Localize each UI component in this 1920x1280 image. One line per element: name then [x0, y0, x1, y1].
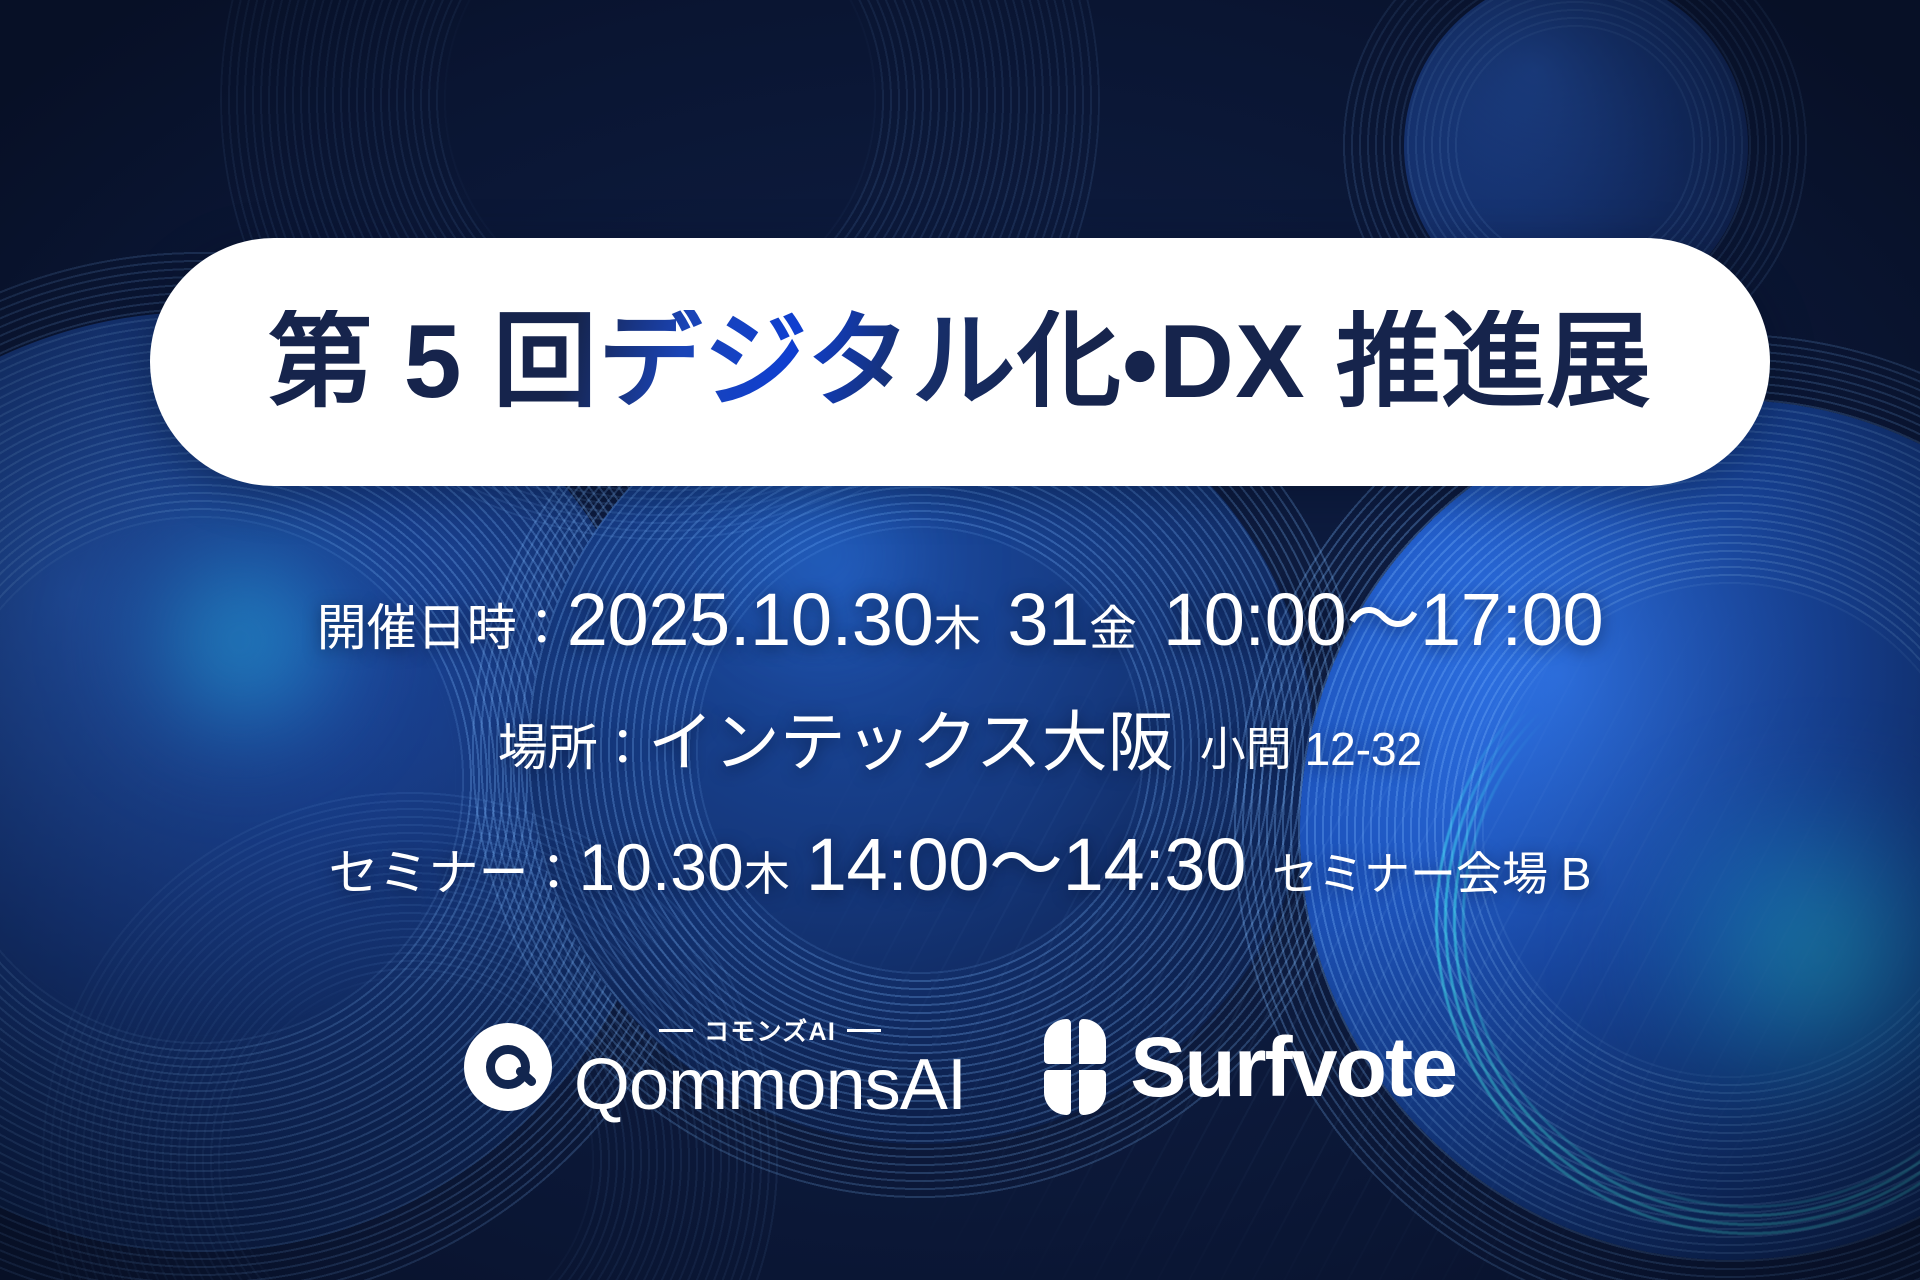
venue-label: 場所： — [498, 708, 648, 780]
date-weekday-1: 木 — [933, 589, 981, 659]
event-details: 開催日時： 2025.10.30 木 31 金 10:00〜17:00 場所： … — [0, 560, 1920, 912]
q-circle-icon — [464, 1023, 552, 1111]
surfvote-logo[interactable]: Surfvote — [1044, 1019, 1456, 1115]
surfvote-quadrant-bottom-left — [1044, 1070, 1071, 1115]
seminar-time: 14:00〜14:30 — [806, 805, 1246, 912]
date-value: 2025.10.30 — [567, 577, 934, 662]
title-pill: 第 5 回デジタル化・DX 推進展 — [150, 238, 1770, 486]
surfvote-quadrant-top-left — [1044, 1019, 1071, 1064]
qommons-wordmark-group: コモンズAI QommonsAI — [574, 1012, 966, 1122]
venue-booth: 小間 12-32 — [1200, 713, 1422, 779]
seminar-date: 10.30 — [579, 829, 744, 905]
ruby-rule-right — [847, 1029, 881, 1032]
surfvote-quadrant-icon — [1044, 1019, 1106, 1115]
seminar-room: セミナー会場 B — [1272, 838, 1591, 904]
logo-row: コモンズAI QommonsAI Surfvote — [0, 1012, 1920, 1122]
surfvote-quadrant-bottom-right — [1079, 1070, 1106, 1115]
date-time-range: 10:00〜17:00 — [1163, 560, 1603, 667]
qommons-wordmark: QommonsAI — [574, 1049, 966, 1122]
qommons-ruby-row: コモンズAI — [574, 1012, 966, 1048]
event-title: 第 5 回デジタル化・DX 推進展 — [268, 310, 1652, 414]
detail-line-date: 開催日時： 2025.10.30 木 31 金 10:00〜17:00 — [317, 560, 1604, 667]
banner-content: 第 5 回デジタル化・DX 推進展 開催日時： 2025.10.30 木 31 … — [0, 0, 1920, 1280]
date-weekday-2: 金 — [1089, 589, 1137, 659]
qommons-ruby-text: コモンズAI — [704, 1012, 836, 1048]
event-banner: 第 5 回デジタル化・DX 推進展 開催日時： 2025.10.30 木 31 … — [0, 0, 1920, 1280]
qommons-ai-logo[interactable]: コモンズAI QommonsAI — [464, 1012, 966, 1122]
surfvote-wordmark: Surfvote — [1130, 1025, 1456, 1109]
detail-line-seminar: セミナー： 10.30 木 14:00〜14:30 セミナー会場 B — [329, 805, 1592, 912]
date-day-2: 31 — [1007, 577, 1089, 662]
seminar-weekday: 木 — [744, 838, 790, 904]
surfvote-quadrant-top-right — [1079, 1019, 1106, 1064]
venue-name: インテックス大阪 — [648, 689, 1174, 785]
date-label: 開催日時： — [317, 588, 567, 660]
detail-line-venue: 場所： インテックス大阪 小間 12-32 — [498, 689, 1422, 785]
ruby-rule-left — [659, 1029, 693, 1032]
seminar-label: セミナー： — [329, 833, 579, 905]
